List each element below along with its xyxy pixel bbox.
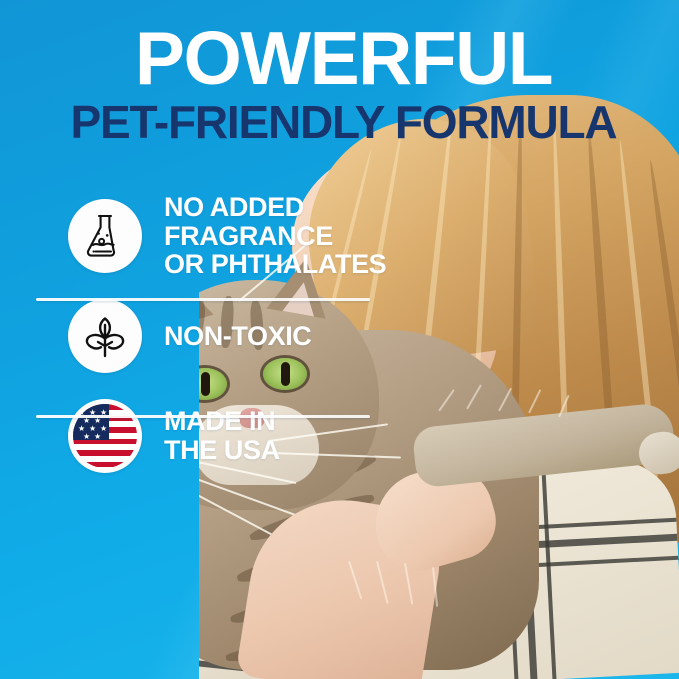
feature-label-no-added-fragrance: NO ADDED FRAGRANCE OR PHTHALATES xyxy=(164,193,386,279)
flask-icon-badge xyxy=(68,199,142,273)
feature-label-line3: OR PHTHALATES xyxy=(164,250,386,279)
headline-secondary: PET-FRIENDLY FORMULA xyxy=(0,93,679,145)
feature-row-made-in-usa: ★ ★ ★ ★ ★ ★ ★ ★ ★ ★ MADE IN THE USA xyxy=(0,386,420,486)
plant-leaf-icon xyxy=(81,312,129,360)
feature-list: NO ADDED FRAGRANCE OR PHTHALATES xyxy=(0,186,420,486)
feature-label-non-toxic: NON-TOXIC xyxy=(164,322,311,351)
feature-divider-2 xyxy=(36,415,370,418)
plant-leaf-icon-badge xyxy=(68,299,142,373)
flag-canton: ★ ★ ★ ★ ★ ★ ★ ★ ★ ★ xyxy=(73,404,109,440)
flask-icon xyxy=(82,212,128,260)
feature-label-line1: MADE IN xyxy=(164,407,280,436)
feature-label-line2: THE USA xyxy=(164,436,280,465)
feature-label-line1: NON-TOXIC xyxy=(164,322,311,351)
usa-flag-icon-badge: ★ ★ ★ ★ ★ ★ ★ ★ ★ ★ xyxy=(68,399,142,473)
headline-primary: POWERFUL xyxy=(0,0,679,93)
feature-label-line2: FRAGRANCE xyxy=(164,222,386,251)
headline-block: POWERFUL PET-FRIENDLY FORMULA xyxy=(0,0,679,145)
feature-row-non-toxic: NON-TOXIC xyxy=(0,286,420,386)
usa-flag-icon: ★ ★ ★ ★ ★ ★ ★ ★ ★ ★ xyxy=(73,404,137,468)
product-feature-banner: POWERFUL PET-FRIENDLY FORMULA xyxy=(0,0,679,679)
feature-divider-1 xyxy=(36,298,370,301)
feature-row-no-added-fragrance: NO ADDED FRAGRANCE OR PHTHALATES xyxy=(0,186,420,286)
feature-label-line1: NO ADDED xyxy=(164,193,386,222)
